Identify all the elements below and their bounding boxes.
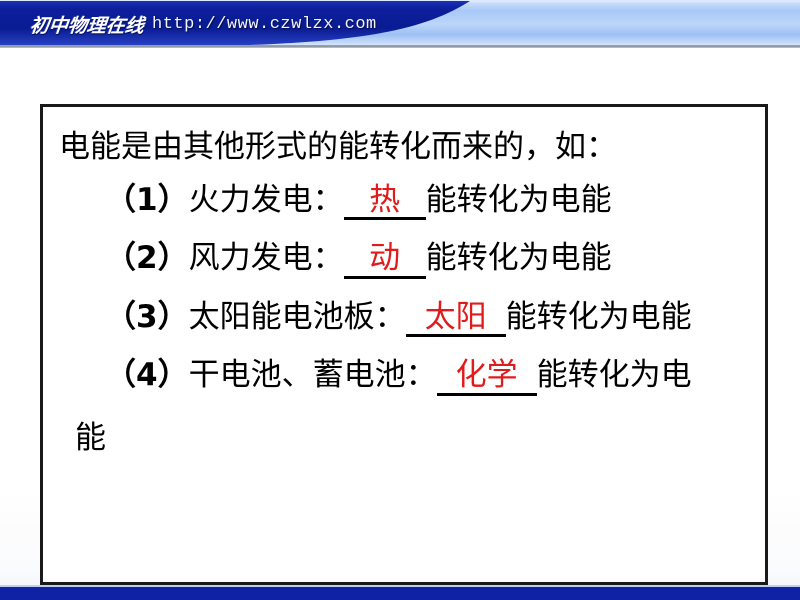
banner-branding: 初中物理在线 http://www.czwlzx.com bbox=[30, 9, 377, 39]
item-subject: 火力发电： bbox=[189, 182, 344, 218]
content-body: 电能是由其他形式的能转化而来的，如： （1）火力发电：热能转化为电能 （2）风力… bbox=[43, 107, 765, 454]
item-tail: 能转化为电能 bbox=[426, 182, 612, 218]
item-number: （2） bbox=[105, 240, 189, 276]
item-subject: 干电池、蓄电池： bbox=[189, 357, 437, 393]
wrapped-text: 能 bbox=[75, 422, 759, 455]
item-subject: 风力发电： bbox=[189, 240, 344, 276]
item-number: （3） bbox=[105, 299, 189, 335]
answer-blank: 太阳 bbox=[406, 301, 506, 338]
item-number: （4） bbox=[105, 357, 189, 393]
site-logo-text: 初中物理在线 bbox=[29, 11, 146, 38]
site-url-text: http://www.czwlzx.com bbox=[152, 15, 377, 34]
slide-title: 电能是由其他形式的能转化而来的，如： bbox=[59, 131, 759, 164]
list-item: （4）干电池、蓄电池：化学能转化为电 bbox=[105, 359, 759, 396]
item-tail: 能转化为电能 bbox=[426, 240, 612, 276]
site-banner: 初中物理在线 http://www.czwlzx.com bbox=[0, 0, 800, 48]
content-frame: 电能是由其他形式的能转化而来的，如： （1）火力发电：热能转化为电能 （2）风力… bbox=[40, 104, 768, 585]
slide-canvas: 电能是由其他形式的能转化而来的，如： （1）火力发电：热能转化为电能 （2）风力… bbox=[0, 48, 800, 587]
item-number: （1） bbox=[105, 182, 189, 218]
list-item: （1）火力发电：热能转化为电能 bbox=[105, 184, 759, 221]
answer-blank: 热 bbox=[344, 184, 426, 221]
item-tail: 能转化为电能 bbox=[506, 299, 692, 335]
list-item: （2）风力发电：动能转化为电能 bbox=[105, 242, 759, 279]
footer-bar bbox=[0, 587, 800, 600]
answer-blank: 动 bbox=[344, 242, 426, 279]
item-subject: 太阳能电池板： bbox=[189, 299, 406, 335]
answer-blank: 化学 bbox=[437, 359, 537, 396]
item-tail: 能转化为电 bbox=[537, 357, 692, 393]
list-item: （3）太阳能电池板：太阳能转化为电能 bbox=[105, 301, 759, 338]
